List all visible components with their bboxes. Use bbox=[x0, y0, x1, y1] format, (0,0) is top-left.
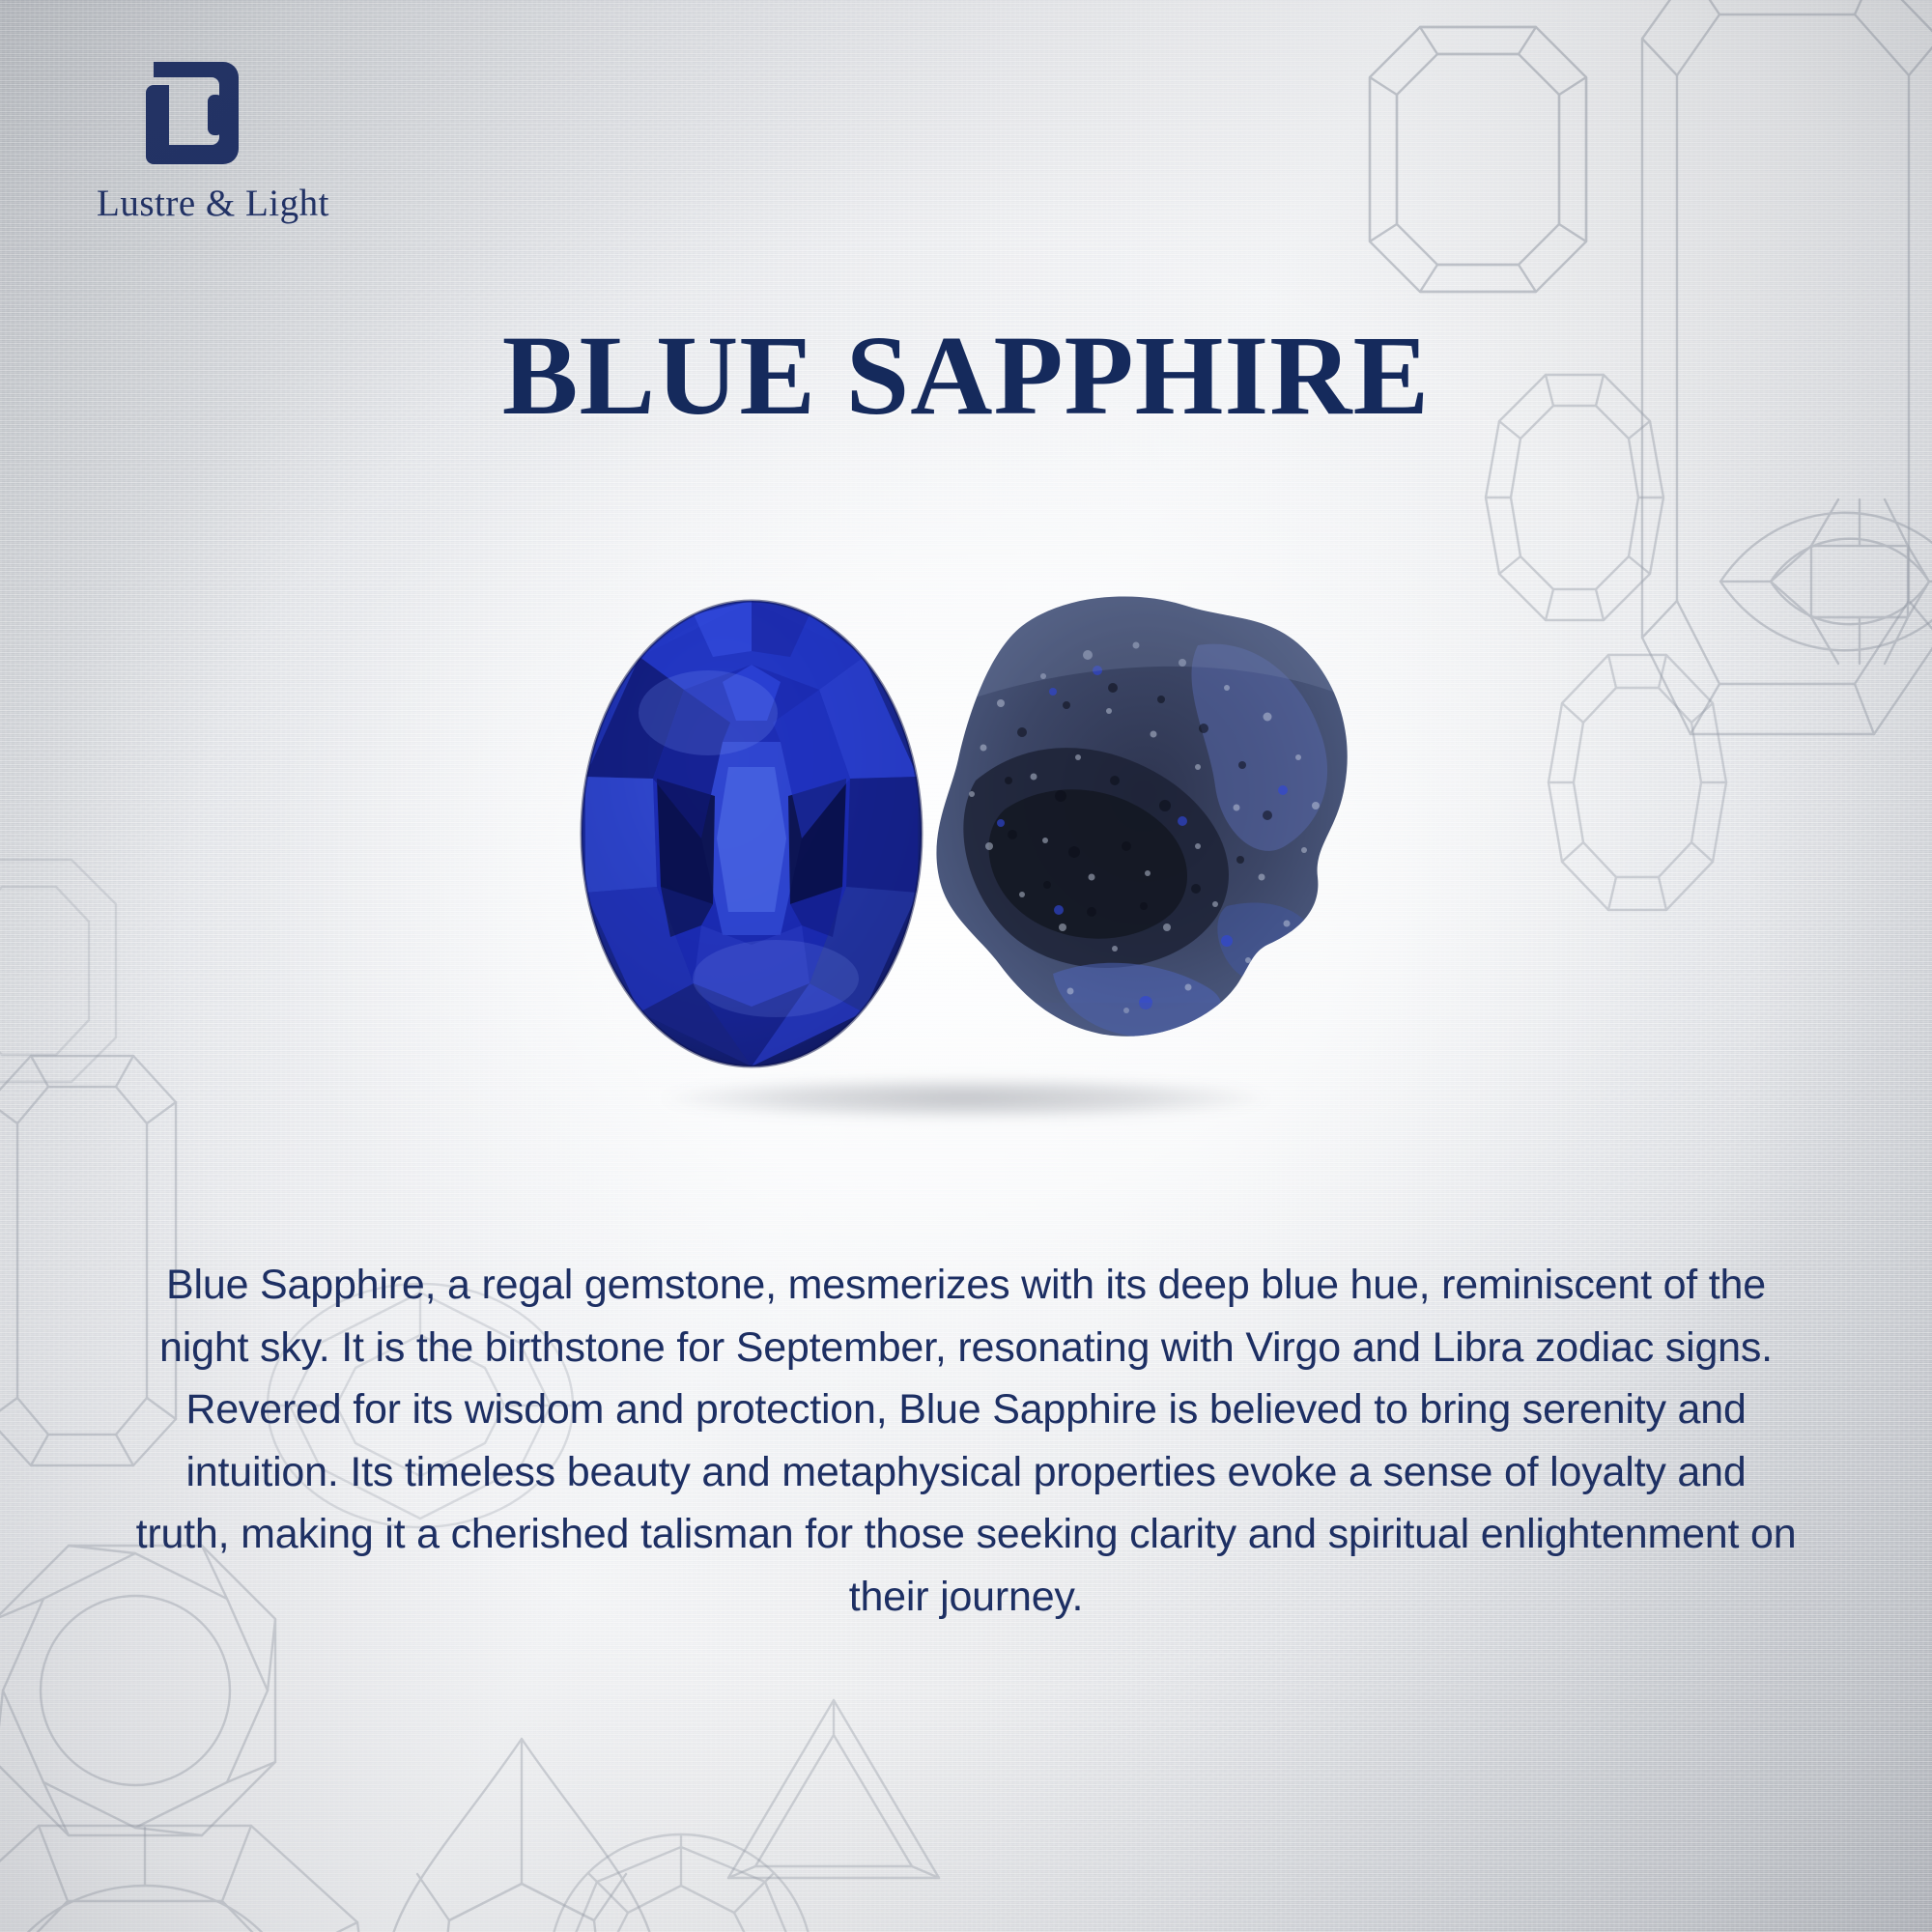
pear-brilliant-outline bbox=[367, 1729, 676, 1932]
octagon-emerald-cut-outline bbox=[0, 850, 126, 1092]
poster-canvas: Lustre & Light BLUE SAPPHIRE bbox=[0, 0, 1932, 1932]
round-brilliant-outline bbox=[541, 1826, 821, 1932]
marquise-brilliant-outline bbox=[1715, 478, 1932, 686]
oval-cut-blue-sapphire bbox=[578, 597, 925, 1070]
bracket-monogram-icon bbox=[140, 56, 246, 170]
description-paragraph: Blue Sapphire, a regal gemstone, mesmeri… bbox=[135, 1254, 1797, 1628]
octagon-emerald-cut-outline bbox=[1352, 10, 1604, 309]
round-brilliant-outline bbox=[0, 1806, 396, 1932]
trillion-cut-outline bbox=[723, 1692, 945, 1886]
brand-name: Lustre & Light bbox=[97, 182, 290, 225]
brand-logo[interactable]: Lustre & Light bbox=[97, 56, 290, 225]
oval-step-cut-outline bbox=[1541, 647, 1734, 918]
page-title: BLUE SAPPHIRE bbox=[0, 319, 1932, 433]
rough-blue-sapphire-crystal bbox=[908, 587, 1362, 1080]
